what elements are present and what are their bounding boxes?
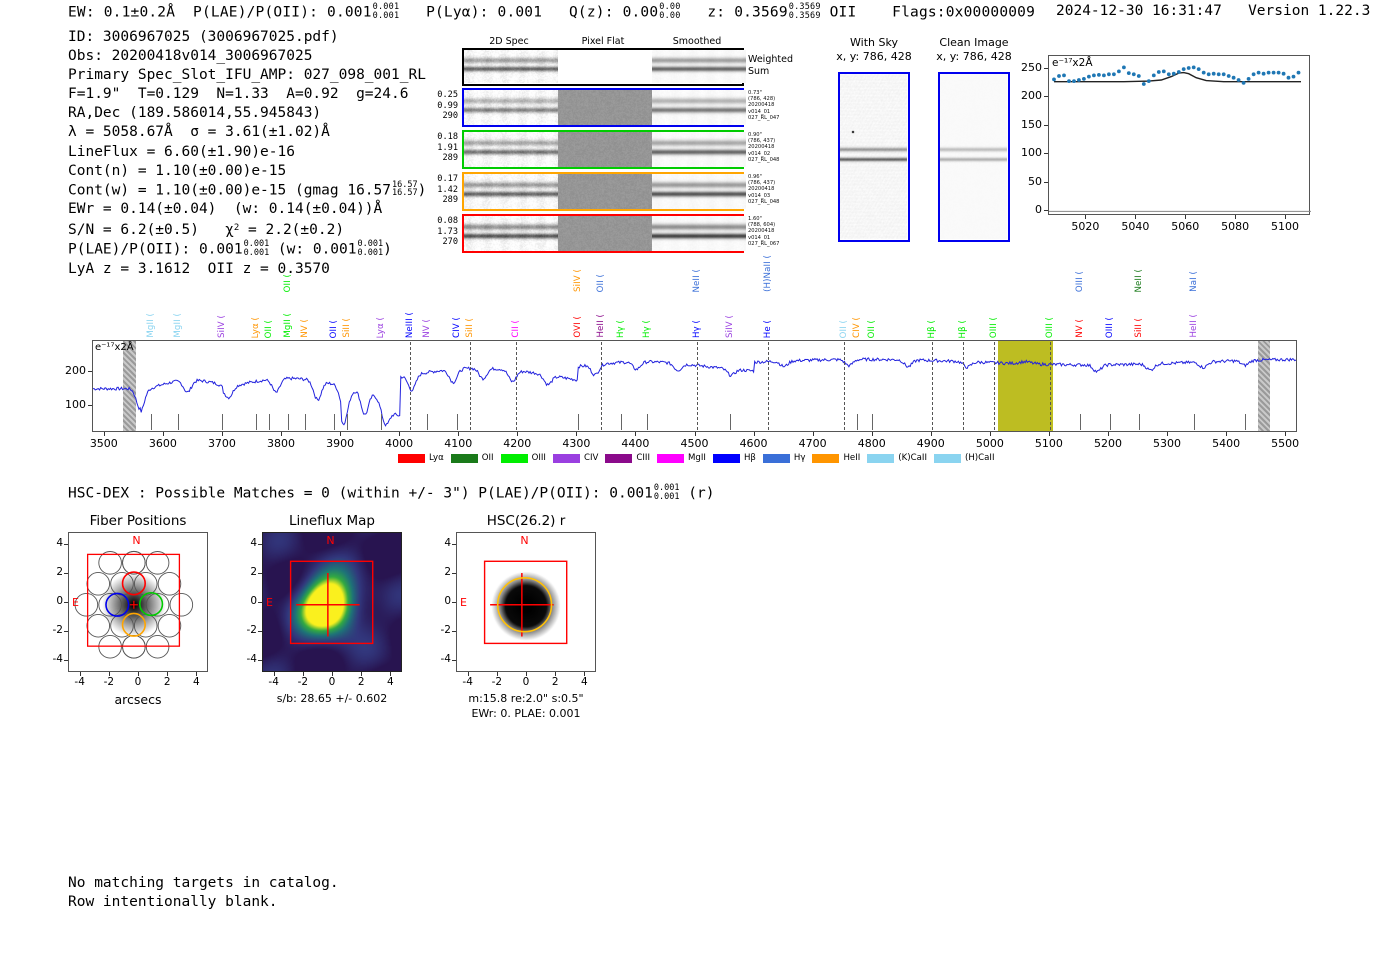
emission-line-label-upper-4: (H)NaII ( bbox=[763, 255, 773, 292]
emission-line-solid-tick bbox=[857, 414, 858, 430]
spec2d-row-frame-1 bbox=[462, 130, 744, 169]
hsc-summary-lo: 0.001 bbox=[654, 492, 680, 502]
spec2d-col-title-1: Pixel Flat bbox=[556, 36, 650, 47]
spec2d-left-label-0-1: 0.99 bbox=[416, 101, 458, 112]
emission-line-label-2: SiIV ( bbox=[217, 315, 227, 338]
compass-north-label-2: N bbox=[520, 534, 528, 547]
spec2d-row-left-labels-3: 0.081.73270 bbox=[416, 216, 458, 248]
hsc-dex-summary: HSC-DEX : Possible Matches = 0 (within +… bbox=[68, 484, 714, 501]
legend-entry-9: (K)CaII bbox=[867, 453, 927, 463]
full-chart-xtick-label: 3700 bbox=[196, 437, 248, 450]
info-cont-w-lo: 16.57 bbox=[392, 188, 418, 198]
emission-line-label-upper-1: SiIV ( bbox=[573, 269, 583, 292]
weighted-sum-label: Weighted Sum bbox=[748, 54, 793, 78]
emission-line-label-26: Hβ ( bbox=[958, 320, 968, 338]
full-chart-xtick-label: 4800 bbox=[846, 437, 898, 450]
full-chart-xtick bbox=[635, 432, 636, 436]
emission-line-solid-tick bbox=[381, 414, 382, 430]
bottom-panel-ytick-0 bbox=[64, 631, 68, 632]
header-z-type: OII bbox=[830, 4, 857, 20]
footer-line-2: Row intentionally blank. bbox=[68, 893, 339, 912]
info-plae: P(LAE)/P(OII): 0.0010.0010.001 (w: 0.001… bbox=[68, 240, 426, 259]
spec2d-right-label-2-4: 027_RL_048 bbox=[748, 199, 804, 205]
bottom-panel-overlay-2 bbox=[457, 533, 595, 671]
legend-swatch-2 bbox=[501, 454, 528, 463]
bottom-panel-ytick-label-2: 4 bbox=[430, 537, 451, 549]
emission-line-label-23: CIV ( bbox=[852, 317, 862, 338]
emission-line-dashed-tick bbox=[410, 342, 411, 430]
zoom-chart-xtick bbox=[1135, 215, 1136, 219]
full-chart-xtick bbox=[931, 432, 932, 436]
full-chart-ytick-label: 100 bbox=[52, 398, 86, 411]
spec2d-col-title-0: 2D Spec bbox=[462, 36, 556, 47]
cutout-image-1 bbox=[938, 72, 1010, 242]
bottom-panel-image-1 bbox=[262, 532, 402, 672]
info-id: ID: 3006967025 (3006967025.pdf) bbox=[68, 28, 426, 47]
zoom-chart-xtick-label: 5040 bbox=[1111, 220, 1159, 233]
emission-line-label-5: MgII ( bbox=[283, 313, 293, 338]
zoom-chart-xtick bbox=[1185, 215, 1186, 219]
legend-entry-10: (H)CaII bbox=[934, 453, 995, 463]
emission-line-label-27: OIII ( bbox=[989, 317, 999, 338]
bottom-panel-title-0: Fiber Positions bbox=[40, 513, 236, 529]
spec2d-right-label-0-4: 027_RL_047 bbox=[748, 115, 804, 121]
compass-north-label-0: N bbox=[132, 534, 140, 547]
emission-line-label-12: CIV ( bbox=[452, 317, 462, 338]
bottom-panel-overlay-0 bbox=[69, 533, 207, 671]
emission-line-solid-tick bbox=[178, 414, 179, 430]
zoom-chart-xtick bbox=[1235, 215, 1236, 219]
emission-line-solid-tick bbox=[427, 414, 428, 430]
spec2d-row-left-labels-1: 0.181.91289 bbox=[416, 132, 458, 164]
full-chart-ytick-label: 200 bbox=[52, 364, 86, 377]
emission-line-solid-tick bbox=[1139, 414, 1140, 430]
bottom-panel-caption1-1: s/b: 28.65 +/- 0.602 bbox=[226, 692, 438, 705]
emission-line-label-11: NV ( bbox=[422, 319, 432, 338]
legend-swatch-10 bbox=[934, 454, 961, 463]
full-chart-xtick-label: 5300 bbox=[1141, 437, 1193, 450]
spec2d-left-label-1-0: 0.18 bbox=[416, 132, 458, 143]
legend-swatch-4 bbox=[605, 454, 632, 463]
bottom-panel-xtick-label-1: 4 bbox=[372, 676, 408, 688]
emission-line-solid-tick bbox=[222, 414, 223, 430]
spec2d-cell-0-1 bbox=[558, 90, 652, 125]
emission-line-solid-tick bbox=[334, 414, 335, 430]
emission-line-label-24: OII ( bbox=[867, 320, 877, 338]
emission-line-label-32: HeII ( bbox=[1189, 314, 1199, 338]
compass-east-label-0: E bbox=[72, 596, 79, 609]
zoom-chart-xtick bbox=[1085, 215, 1086, 219]
bottom-panel-ytick-1 bbox=[258, 660, 262, 661]
full-chart-xtick-label: 4500 bbox=[669, 437, 721, 450]
legend-entry-7: Hγ bbox=[763, 453, 806, 463]
info-ewr: EWr = 0.14(±0.04) (w: 0.14(±0.04))Å bbox=[68, 200, 426, 219]
cutout-image-0 bbox=[838, 72, 910, 242]
emission-line-label-29: NV ( bbox=[1075, 319, 1085, 338]
spec2d-row-frame-2 bbox=[462, 172, 744, 211]
bottom-panel-ytick-label-0: -2 bbox=[42, 624, 63, 636]
full-chart-xtick-label: 5500 bbox=[1259, 437, 1311, 450]
spec2d-row-strips-3 bbox=[464, 216, 746, 251]
cutout-title-1: Clean Imagex, y: 786, 428 bbox=[916, 36, 1032, 63]
version-label: Version 1.22.3 bbox=[1248, 3, 1370, 19]
info-seeing: F=1.9" T=0.129 N=1.33 A=0.92 g=24.6 bbox=[68, 85, 426, 104]
emission-line-dashed-tick bbox=[932, 342, 933, 430]
emission-line-solid-tick bbox=[1110, 414, 1111, 430]
emission-line-dashed-tick bbox=[470, 342, 471, 430]
emission-line-solid-tick bbox=[578, 414, 579, 430]
full-chart-xtick bbox=[340, 432, 341, 436]
zoom-chart-ytick-label: 0 bbox=[1006, 203, 1042, 216]
bottom-panel-ytick-label-2: -2 bbox=[430, 624, 451, 636]
legend-entry-8: HeII bbox=[812, 453, 860, 463]
header-plae-poii-label: P(LAE)/P(OII): bbox=[193, 4, 318, 20]
zoom-chart-ytick bbox=[1044, 125, 1048, 126]
weighted-sum-cell-2 bbox=[652, 50, 746, 83]
bottom-panel-title-1: Lineflux Map bbox=[234, 513, 430, 529]
full-chart-xtick-label: 5400 bbox=[1200, 437, 1252, 450]
spec2d-row-right-labels-2: 0.96"(786, 437)20200418v014_03027_RL_048 bbox=[748, 174, 804, 205]
spec2d-cell-3-1 bbox=[558, 216, 652, 251]
legend-label-0: Lyα bbox=[429, 453, 444, 463]
info-plae-pre: P(LAE)/P(OII): 0.001 bbox=[68, 242, 243, 258]
full-chart-xtick-label: 4300 bbox=[550, 437, 602, 450]
emission-line-solid-tick bbox=[730, 414, 731, 430]
bottom-panel-ytick-2 bbox=[452, 602, 456, 603]
full-chart-xtick bbox=[1167, 432, 1168, 436]
emission-line-solid-tick bbox=[872, 414, 873, 430]
bottom-panel-caption1-2: m:15.8 re:2.0" s:0.5" bbox=[420, 692, 632, 705]
bottom-panel-ytick-2 bbox=[452, 631, 456, 632]
full-chart-xtick-label: 3600 bbox=[137, 437, 189, 450]
full-chart-xtick-label: 3500 bbox=[78, 437, 130, 450]
legend-label-9: (K)CaII bbox=[898, 453, 927, 463]
emission-line-solid-tick bbox=[288, 414, 289, 430]
bottom-panel-ytick-label-0: 4 bbox=[42, 537, 63, 549]
emission-line-label-25: Hβ ( bbox=[927, 320, 937, 338]
spec2d-left-label-1-2: 289 bbox=[416, 153, 458, 164]
full-chart-axes bbox=[92, 340, 1297, 432]
zoom-chart-ytick bbox=[1044, 210, 1048, 211]
spec2d-row-strips-0 bbox=[464, 90, 746, 125]
bottom-panel-ytick-label-0: -4 bbox=[42, 653, 63, 665]
full-chart-xtick bbox=[1049, 432, 1050, 436]
emission-line-label-upper-0: OII ( bbox=[283, 274, 293, 292]
bottom-panel-image-0 bbox=[68, 532, 208, 672]
spec2d-left-label-0-0: 0.25 bbox=[416, 90, 458, 101]
bottom-panel-ytick-0 bbox=[64, 544, 68, 545]
emission-line-label-6: NV ( bbox=[300, 319, 310, 338]
spec2d-cell-2-2 bbox=[652, 174, 746, 209]
bottom-panel-ytick-1 bbox=[258, 544, 262, 545]
zoom-chart-ytick bbox=[1044, 96, 1048, 97]
full-chart-xtick bbox=[104, 432, 105, 436]
emission-line-solid-tick bbox=[1245, 414, 1246, 430]
legend-entry-3: CIV bbox=[553, 453, 598, 463]
legend-swatch-5 bbox=[657, 454, 684, 463]
header-timestamp-version: 2024-12-30 16:31:47 Version 1.22.3 bbox=[1056, 3, 1370, 19]
emission-line-label-30: OIII ( bbox=[1105, 317, 1115, 338]
bottom-panel-xlabel-0: arcsecs bbox=[38, 692, 238, 707]
cutout-title-text-0: With Sky bbox=[816, 36, 932, 50]
full-chart-xtick-label: 4100 bbox=[432, 437, 484, 450]
full-chart-xtick bbox=[872, 432, 873, 436]
legend-swatch-0 bbox=[398, 454, 425, 463]
spec2d-cell-2-1 bbox=[558, 174, 652, 209]
footer-message: No matching targets in catalog. Row inte… bbox=[68, 874, 339, 912]
zoom-chart-xtick-label: 5060 bbox=[1161, 220, 1209, 233]
emission-line-label-upper-3: NeII ( bbox=[692, 269, 702, 292]
cutout-title-0: With Skyx, y: 786, 428 bbox=[816, 36, 932, 63]
bottom-panel-ytick-label-1: 0 bbox=[236, 595, 257, 607]
bottom-panel-ytick-label-2: -4 bbox=[430, 653, 451, 665]
header-z-label: z: bbox=[707, 4, 725, 20]
bottom-panel-image-2 bbox=[456, 532, 596, 672]
zoom-chart-units-label: e⁻¹⁷x2Å bbox=[1052, 57, 1093, 69]
legend-entry-5: MgII bbox=[657, 453, 706, 463]
full-chart-xtick-label: 5100 bbox=[1023, 437, 1075, 450]
hsc-summary-post: (r) bbox=[680, 485, 715, 501]
legend-entry-6: Hβ bbox=[713, 453, 756, 463]
header-plya-value: 0.001 bbox=[498, 4, 543, 20]
full-chart-xtick bbox=[222, 432, 223, 436]
legend-label-1: OII bbox=[482, 453, 494, 463]
full-chart-xtick-label: 3900 bbox=[314, 437, 366, 450]
info-chi2-val: = 2.2(±0.2) bbox=[239, 222, 344, 238]
bottom-panel-overlay-1 bbox=[263, 533, 401, 671]
info-redshifts: LyA z = 3.1612 OII z = 0.3570 bbox=[68, 260, 426, 279]
spec2d-row-right-labels-0: 0.73"(786, 428)20200418v014_01027_RL_047 bbox=[748, 90, 804, 121]
emission-line-label-upper-5: OIII ( bbox=[1075, 271, 1085, 292]
full-chart-xtick-label: 5000 bbox=[964, 437, 1016, 450]
full-chart-xtick-label: 4600 bbox=[728, 437, 780, 450]
header-qz-lo: 0.00 bbox=[659, 11, 680, 21]
spec2d-left-label-2-2: 289 bbox=[416, 195, 458, 206]
header-z-value: 0.3569 bbox=[734, 4, 788, 20]
full-chart-trace bbox=[93, 341, 1297, 432]
full-chart-xtick-label: 4200 bbox=[491, 437, 543, 450]
spec2d-row-frame-0 bbox=[462, 88, 744, 127]
emission-line-label-4: OII ( bbox=[264, 320, 274, 338]
full-chart-xtick-label: 4700 bbox=[787, 437, 839, 450]
emission-line-solid-tick bbox=[457, 414, 458, 430]
full-chart-xtick bbox=[813, 432, 814, 436]
bottom-panel-ytick-label-0: 0 bbox=[42, 595, 63, 607]
spec2d-cell-1-1 bbox=[558, 132, 652, 167]
cutout-title-text-1: Clean Image bbox=[916, 36, 1032, 50]
emission-line-label-upper-7: NaI ( bbox=[1189, 271, 1199, 292]
bottom-panel-ytick-label-1: -2 bbox=[236, 624, 257, 636]
legend-entry-1: OII bbox=[451, 453, 494, 463]
weighted-sum-strips bbox=[464, 50, 746, 83]
full-chart-xtick bbox=[458, 432, 459, 436]
emission-line-solid-tick bbox=[305, 414, 306, 430]
spec2d-col-title-2: Smoothed bbox=[650, 36, 744, 47]
info-sn-text: S/N = 6.2(±0.5) χ bbox=[68, 222, 234, 238]
info-radec: RA,Dec (189.586014,55.945843) bbox=[68, 104, 426, 123]
info-lambda-sigma: λ = 5058.67Å σ = 3.61(±1.02)Å bbox=[68, 123, 426, 142]
full-chart-ytick bbox=[88, 405, 92, 406]
bottom-panel-ytick-1 bbox=[258, 573, 262, 574]
bottom-panel-ytick-label-2: 2 bbox=[430, 566, 451, 578]
spec2d-cell-0-2 bbox=[652, 90, 746, 125]
emission-line-label-upper-2: OII ( bbox=[596, 274, 606, 292]
header-ew: EW: 0.1±0.2Å bbox=[68, 4, 175, 20]
emission-line-solid-tick bbox=[269, 414, 270, 430]
emission-line-label-10: NeIII ( bbox=[405, 312, 415, 338]
info-cont-w: Cont(w) = 1.10(±0.00)e-15 (gmag 16.5716.… bbox=[68, 181, 426, 200]
spec2d-row-right-labels-1: 0.90"(786, 437)20200418v014_02027_RL_048 bbox=[748, 132, 804, 163]
emission-line-dashed-tick bbox=[516, 342, 517, 430]
bottom-panel-ytick-2 bbox=[452, 660, 456, 661]
legend-swatch-6 bbox=[713, 454, 740, 463]
header-plae-poii-lo: 0.001 bbox=[373, 11, 400, 21]
zoom-chart-axes bbox=[1048, 55, 1310, 215]
emission-line-label-3: Lyα ( bbox=[251, 317, 261, 338]
full-chart-xtick bbox=[576, 432, 577, 436]
emission-line-solid-tick bbox=[621, 414, 622, 430]
spec2d-left-label-1-1: 1.91 bbox=[416, 143, 458, 154]
spec2d-row-strips-2 bbox=[464, 174, 746, 209]
emission-line-dashed-tick bbox=[1050, 342, 1051, 430]
spec2d-cell-3-2 bbox=[652, 216, 746, 251]
bottom-panel-ytick-label-1: -4 bbox=[236, 653, 257, 665]
legend-label-4: CIII bbox=[636, 453, 650, 463]
emission-line-dashed-tick bbox=[994, 342, 995, 430]
bottom-panel-xtick-label-0: 4 bbox=[178, 676, 214, 688]
legend-entry-0: Lyα bbox=[398, 453, 444, 463]
compass-east-label-1: E bbox=[266, 596, 273, 609]
info-cont-w-text: Cont(w) = 1.10(±0.00)e-15 (gmag 16.57 bbox=[68, 182, 391, 198]
emission-line-label-19: Hγ ( bbox=[692, 320, 702, 338]
emission-line-label-13: SiII ( bbox=[465, 318, 475, 338]
spec2d-cell-1-0 bbox=[464, 132, 558, 167]
footer-line-1: No matching targets in catalog. bbox=[68, 874, 339, 893]
info-primary-spec: Primary Spec_Slot_IFU_AMP: 027_098_001_R… bbox=[68, 66, 426, 85]
emission-line-label-8: SiII ( bbox=[342, 318, 352, 338]
spec2d-row-right-labels-3: 1.60"(788, 604)20200418v014_01027_RL_067 bbox=[748, 216, 804, 247]
legend-label-3: CIV bbox=[584, 453, 598, 463]
spec2d-right-label-3-4: 027_RL_067 bbox=[748, 241, 804, 247]
spec2d-cell-0-0 bbox=[464, 90, 558, 125]
legend-swatch-8 bbox=[812, 454, 839, 463]
hsc-summary-text: HSC-DEX : Possible Matches = 0 (within +… bbox=[68, 485, 653, 501]
emission-line-solid-tick bbox=[647, 414, 648, 430]
zoom-chart-ytick-label: 250 bbox=[1006, 61, 1042, 74]
spec2d-left-label-3-1: 1.73 bbox=[416, 227, 458, 238]
emission-line-solid-tick bbox=[1194, 414, 1195, 430]
bottom-panel-ytick-0 bbox=[64, 602, 68, 603]
bottom-panel-xtick-label-2: 4 bbox=[566, 676, 602, 688]
full-chart-xtick bbox=[281, 432, 282, 436]
header-z-lo: 0.3569 bbox=[789, 11, 821, 21]
bottom-panel-ytick-label-1: 2 bbox=[236, 566, 257, 578]
emission-line-solid-tick bbox=[1080, 414, 1081, 430]
zoom-chart-xtick bbox=[1285, 215, 1286, 219]
bottom-panel-ytick-0 bbox=[64, 573, 68, 574]
legend-label-8: HeII bbox=[843, 453, 860, 463]
zoom-chart-xtick-label: 5080 bbox=[1211, 220, 1259, 233]
full-chart-xtick bbox=[517, 432, 518, 436]
full-chart-xtick bbox=[1226, 432, 1227, 436]
spec2d-row-left-labels-2: 0.171.42289 bbox=[416, 174, 458, 206]
detection-info-block: ID: 3006967025 (3006967025.pdf) Obs: 202… bbox=[68, 28, 426, 279]
legend-label-7: Hγ bbox=[794, 453, 806, 463]
full-chart-xtick bbox=[1285, 432, 1286, 436]
spec2d-right-label-1-4: 027_RL_048 bbox=[748, 157, 804, 163]
emission-line-label-21: He ( bbox=[763, 320, 773, 338]
bottom-panel-ytick-0 bbox=[64, 660, 68, 661]
info-sn-chi2: S/N = 6.2(±0.5) χ2 = 2.2(±0.2) bbox=[68, 219, 426, 240]
zoom-chart-ytick-label: 100 bbox=[1006, 146, 1042, 159]
spec2d-row-left-labels-0: 0.250.99290 bbox=[416, 90, 458, 122]
full-chart-xtick-label: 5200 bbox=[1082, 437, 1134, 450]
zoom-chart-ytick-label: 200 bbox=[1006, 89, 1042, 102]
weighted-sum-cell-1 bbox=[558, 50, 652, 83]
full-chart-xtick bbox=[163, 432, 164, 436]
cutout-subtitle-text-0: x, y: 786, 428 bbox=[816, 50, 932, 64]
emission-line-solid-tick bbox=[256, 414, 257, 430]
info-obs: Obs: 20200418v014_3006967025 bbox=[68, 47, 426, 66]
zoom-chart-ytick bbox=[1044, 153, 1048, 154]
legend-swatch-7 bbox=[763, 454, 790, 463]
legend-swatch-9 bbox=[867, 454, 894, 463]
header-plae-poii-value: 0.001 bbox=[327, 4, 372, 20]
full-chart-xtick bbox=[1108, 432, 1109, 436]
bottom-panel-ytick-2 bbox=[452, 544, 456, 545]
legend-entry-2: OIII bbox=[501, 453, 546, 463]
emission-line-label-16: HeII ( bbox=[596, 314, 606, 338]
bottom-panel-ytick-label-1: 4 bbox=[236, 537, 257, 549]
full-chart-xtick bbox=[754, 432, 755, 436]
full-chart-xtick-label: 3800 bbox=[255, 437, 307, 450]
emission-line-label-0: MgII ( bbox=[146, 313, 156, 338]
spec2d-row-strips-1 bbox=[464, 132, 746, 167]
timestamp: 2024-12-30 16:31:47 bbox=[1056, 3, 1222, 19]
spec2d-left-label-3-2: 270 bbox=[416, 237, 458, 248]
full-chart-xtick-label: 4400 bbox=[609, 437, 661, 450]
emission-line-label-22: OII ( bbox=[839, 320, 849, 338]
full-chart-ytick bbox=[88, 371, 92, 372]
zoom-chart-xtick-label: 5100 bbox=[1261, 220, 1309, 233]
zoom-chart-xtick-label: 5020 bbox=[1061, 220, 1109, 233]
bottom-panel-ytick-1 bbox=[258, 631, 262, 632]
bottom-panel-caption2-2: EWr: 0. PLAE: 0.001 bbox=[420, 707, 632, 720]
legend-label-2: OIII bbox=[532, 453, 546, 463]
legend-label-6: Hβ bbox=[744, 453, 756, 463]
full-chart-xtick bbox=[695, 432, 696, 436]
zoom-chart-ytick bbox=[1044, 182, 1048, 183]
bottom-panel-ytick-2 bbox=[452, 573, 456, 574]
info-plae-w-lo: 0.001 bbox=[358, 248, 384, 258]
full-chart-xtick bbox=[990, 432, 991, 436]
full-chart-xtick-label: 4000 bbox=[373, 437, 425, 450]
header-flags: Flags:0x00000009 bbox=[892, 4, 1035, 20]
spec2d-cell-1-2 bbox=[652, 132, 746, 167]
emission-line-solid-tick bbox=[151, 414, 152, 430]
zoom-chart-ytick-label: 150 bbox=[1006, 118, 1042, 131]
emission-line-label-14: CII ( bbox=[511, 320, 521, 338]
emission-line-solid-tick bbox=[347, 414, 348, 430]
info-lineflux: LineFlux = 6.60(±1.90)e-16 bbox=[68, 143, 426, 162]
emission-line-label-15: OVI ( bbox=[573, 316, 583, 338]
spec2d-left-label-0-2: 290 bbox=[416, 111, 458, 122]
bottom-panel-title-2: HSC(26.2) r bbox=[428, 513, 624, 529]
emission-line-label-20: SiIV ( bbox=[725, 315, 735, 338]
full-chart-xtick bbox=[399, 432, 400, 436]
spec2d-cell-3-0 bbox=[464, 216, 558, 251]
header-qz-label: Q(z): bbox=[569, 4, 614, 20]
